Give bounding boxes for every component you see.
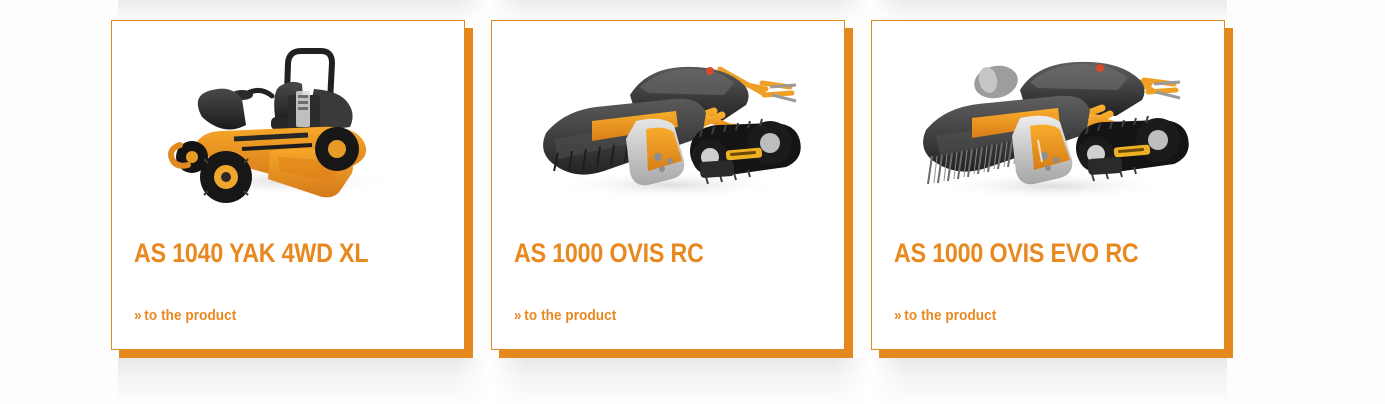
card-body: AS 1000 OVIS RC »to the product	[491, 20, 845, 350]
to-the-product-label: to the product	[144, 307, 236, 324]
product-card[interactable]: AS 1040 YAK 4WD XL »to the product	[111, 20, 465, 350]
to-the-product-link[interactable]: »to the product	[134, 308, 236, 323]
card-media	[112, 21, 464, 217]
card-media	[492, 21, 844, 217]
row-shadow-bottom	[0, 358, 1385, 404]
ride-on-mower-photo	[138, 29, 438, 209]
tracked-rc-mower-photo	[514, 29, 822, 209]
product-title: AS 1000 OVIS EVO RC	[894, 217, 1159, 267]
to-the-product-label: to the product	[904, 307, 996, 324]
card-media	[872, 21, 1224, 217]
product-card[interactable]: AS 1000 OVIS EVO RC »to the product	[871, 20, 1225, 350]
product-title: AS 1040 YAK 4WD XL	[134, 217, 399, 267]
double-chevron-icon: »	[894, 307, 902, 324]
left-margin	[0, 0, 118, 404]
row-shadow-top	[0, 0, 1385, 22]
to-the-product-link[interactable]: »to the product	[894, 308, 996, 323]
card-body: AS 1040 YAK 4WD XL »to the product	[111, 20, 465, 350]
card-text: AS 1040 YAK 4WD XL »to the product	[112, 217, 464, 325]
to-the-product-link[interactable]: »to the product	[514, 308, 616, 323]
product-card[interactable]: AS 1000 OVIS RC »to the product	[491, 20, 845, 350]
to-the-product-label: to the product	[524, 307, 616, 324]
product-grid: AS 1040 YAK 4WD XL »to the product	[111, 20, 1271, 360]
card-body: AS 1000 OVIS EVO RC »to the product	[871, 20, 1225, 350]
double-chevron-icon: »	[514, 307, 522, 324]
double-chevron-icon: »	[134, 307, 142, 324]
card-text: AS 1000 OVIS RC »to the product	[492, 217, 844, 325]
tracked-rc-mower-evo-photo	[892, 28, 1204, 210]
card-text: AS 1000 OVIS EVO RC »to the product	[872, 217, 1224, 325]
product-title: AS 1000 OVIS RC	[514, 217, 779, 267]
